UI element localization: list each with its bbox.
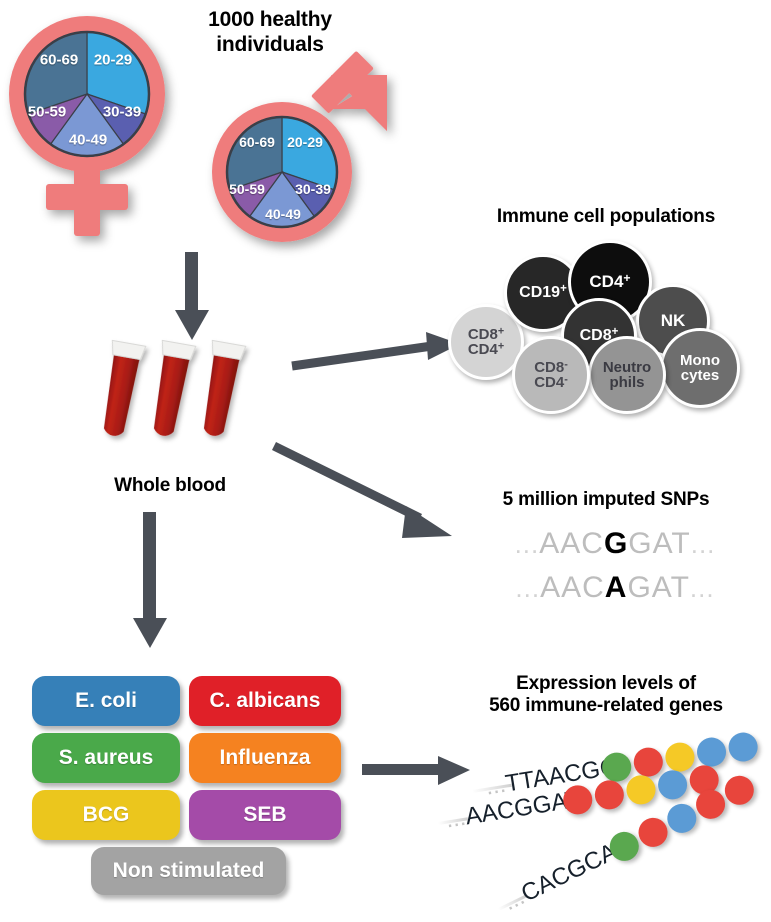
expression-title-line1: Expression levels of bbox=[446, 673, 766, 695]
whole-blood-tubes bbox=[96, 335, 286, 475]
stimulus-label: E. coli bbox=[75, 689, 137, 713]
page-title-line2: individuals bbox=[160, 33, 380, 58]
stimulus-bcg[interactable]: BCG bbox=[32, 790, 180, 840]
snp-ellipsis-right: ... bbox=[691, 529, 716, 559]
male-gender-symbol: 20-29 30-39 40-49 50-59 60-69 bbox=[207, 75, 397, 250]
expression-title: Expression levels of 560 immune-related … bbox=[446, 673, 766, 718]
snp-variant-allele: G bbox=[604, 527, 628, 560]
immune-cell-population-group: CD8+CD4+ CD19+ CD4+ NK CD8+ Monocytes Ne… bbox=[446, 236, 766, 421]
snp-ellipsis-left: ... bbox=[515, 529, 540, 559]
cell-label: Monocytes bbox=[680, 353, 720, 384]
snp-variant-allele: A bbox=[605, 571, 628, 604]
expression-bead bbox=[720, 771, 759, 810]
arrow-blood-to-snps bbox=[272, 440, 462, 550]
female-age-label-60-69: 60-69 bbox=[40, 52, 78, 69]
expression-bead bbox=[624, 773, 657, 806]
page-title: 1000 healthy individuals bbox=[160, 8, 380, 58]
female-gender-symbol: 20-29 30-39 40-49 50-59 60-69 bbox=[6, 8, 186, 238]
stimulus-label: S. aureus bbox=[59, 746, 154, 770]
stimulus-c-albicans[interactable]: C. albicans bbox=[189, 676, 341, 726]
expression-title-line2: 560 immune-related genes bbox=[446, 695, 766, 717]
cell-label: CD19+ bbox=[519, 285, 567, 301]
stimulus-label: SEB bbox=[243, 803, 286, 827]
snp-suffix: GAT bbox=[628, 527, 690, 560]
snp-suffix: GAT bbox=[627, 571, 689, 604]
male-age-label-60-69: 60-69 bbox=[239, 134, 275, 150]
male-age-label-30-39: 30-39 bbox=[295, 181, 331, 197]
stimulus-non-stimulated[interactable]: Non stimulated bbox=[91, 847, 286, 895]
stimulus-s-aureus[interactable]: S. aureus bbox=[32, 733, 180, 783]
stimulus-seb[interactable]: SEB bbox=[189, 790, 341, 840]
male-age-label-40-49: 40-49 bbox=[265, 206, 301, 222]
cell-label: NK bbox=[661, 312, 686, 329]
snp-sequence-row-1: ...AACGGAT... bbox=[470, 527, 760, 561]
male-age-label-50-59: 50-59 bbox=[229, 181, 265, 197]
cell-monocytes: Monocytes bbox=[660, 328, 740, 408]
snp-sequences: ...AACGGAT... ...AACAGAT... bbox=[470, 525, 760, 615]
arrow-blood-to-immune-cells bbox=[290, 330, 465, 380]
cell-cd8-negative-cd4-negative: CD8-CD4- bbox=[512, 336, 590, 414]
female-age-label-40-49: 40-49 bbox=[69, 132, 107, 149]
gene-expression-strands: ...TTAACGG ...AACGGAT ...CACGCAA bbox=[450, 740, 771, 920]
strand-sequence: ...AACGGAT bbox=[444, 786, 582, 835]
immune-cell-populations-title: Immune cell populations bbox=[446, 206, 766, 228]
stimulus-label: C. albicans bbox=[210, 689, 321, 713]
stimulus-influenza[interactable]: Influenza bbox=[189, 733, 341, 783]
stimulus-label: Non stimulated bbox=[113, 859, 265, 883]
female-age-label-30-39: 30-39 bbox=[103, 104, 141, 121]
arrow-blood-to-stimuli bbox=[130, 512, 170, 652]
snp-prefix: AAC bbox=[540, 571, 605, 604]
cell-label: CD8+CD4+ bbox=[468, 327, 504, 358]
snps-title: 5 million imputed SNPs bbox=[446, 489, 766, 511]
snp-ellipsis-right: ... bbox=[690, 573, 715, 603]
expression-bead bbox=[593, 778, 626, 811]
snp-sequence-row-2: ...AACAGAT... bbox=[470, 571, 760, 605]
stimulus-e-coli[interactable]: E. coli bbox=[32, 676, 180, 726]
cell-neutrophils: Neutrophils bbox=[588, 336, 666, 414]
snp-prefix: AAC bbox=[539, 527, 604, 560]
female-age-label-20-29: 20-29 bbox=[94, 52, 132, 69]
stimuli-panel: E. coli C. albicans S. aureus Influenza … bbox=[32, 676, 342, 898]
snp-ellipsis-left: ... bbox=[515, 573, 540, 603]
cell-label: CD8-CD4- bbox=[534, 360, 568, 391]
stimulus-label: BCG bbox=[83, 803, 130, 827]
male-age-label-20-29: 20-29 bbox=[287, 134, 323, 150]
study-design-diagram: 1000 healthy individuals bbox=[0, 0, 771, 922]
whole-blood-label: Whole blood bbox=[60, 475, 280, 497]
arrow-cohort-to-blood bbox=[172, 252, 212, 342]
cell-label: Neutrophils bbox=[603, 360, 651, 391]
stimulus-label: Influenza bbox=[219, 746, 310, 770]
female-age-label-50-59: 50-59 bbox=[28, 104, 66, 121]
page-title-line1: 1000 healthy bbox=[160, 8, 380, 33]
cell-label: CD4+ bbox=[589, 273, 630, 290]
